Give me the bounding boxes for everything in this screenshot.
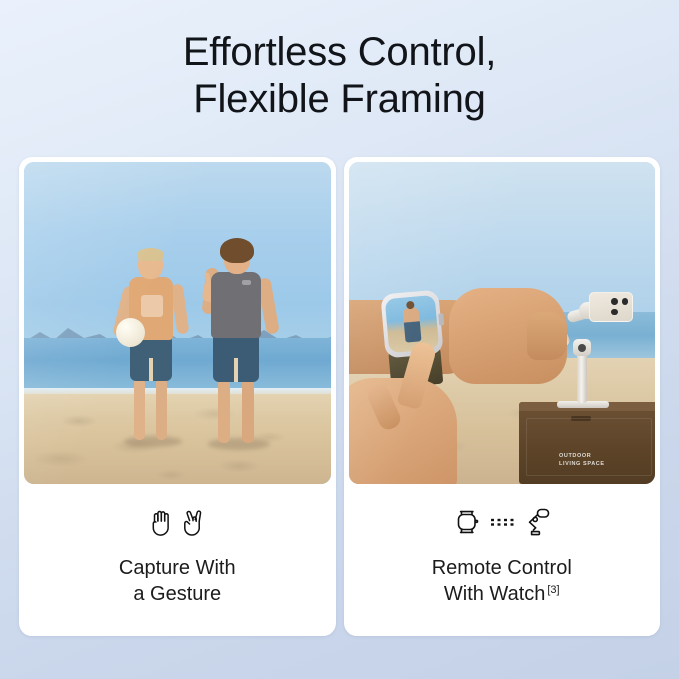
open-palm-hand-icon — [148, 507, 174, 537]
card-caption: Remote Control With Watch[3] — [349, 484, 656, 636]
wireless-signal-dashes-icon — [489, 506, 515, 538]
mounted-phone — [589, 292, 633, 322]
rash-guard — [211, 272, 261, 338]
pointing-hand — [349, 344, 483, 484]
card-caption: Capture With a Gesture — [24, 484, 331, 636]
camera-lens — [622, 298, 629, 305]
knuckles — [527, 312, 567, 360]
caption-line-2: With Watch[3] — [432, 581, 572, 607]
page-title: Effortless Control, Flexible Framing — [0, 29, 679, 123]
watch-remote-control-photo: OUTDOOR LIVING SPACE — [349, 162, 656, 484]
shadow — [208, 438, 270, 450]
hair — [220, 238, 254, 263]
remote-icon-row — [452, 502, 552, 542]
feature-card-grid: Capture With a Gesture OUTDOOR — [19, 157, 660, 636]
hair — [137, 248, 164, 261]
caption-line-2: a Gesture — [119, 581, 236, 607]
headline-line-2: Flexible Framing — [0, 76, 679, 123]
camera-lens — [611, 309, 618, 316]
crate-label: OUTDOOR LIVING SPACE — [559, 453, 605, 468]
caption-line-1: Capture With — [119, 555, 236, 581]
phone-camera-cluster — [611, 298, 628, 315]
leg-left — [218, 379, 230, 443]
feature-card-capture-with-a-gesture[interactable]: Capture With a Gesture — [19, 157, 336, 636]
shadow — [124, 436, 182, 447]
card-caption-text: Remote Control With Watch[3] — [432, 555, 572, 608]
smartwatch-icon — [452, 506, 482, 538]
boy-with-ball — [122, 250, 184, 450]
crate-label-line-1: OUTDOOR — [559, 453, 605, 460]
gimbal-icon — [522, 506, 552, 538]
outdoor-crate: OUTDOOR LIVING SPACE — [519, 402, 655, 484]
leg-right — [242, 379, 254, 443]
caption-line-1: Remote Control — [432, 555, 572, 581]
caption-line-2-text: With Watch — [444, 583, 546, 605]
promo-page: Effortless Control, Flexible Framing — [0, 0, 679, 679]
beach-ball — [116, 318, 145, 347]
leg-left — [134, 378, 145, 440]
headline-line-1: Effortless Control, — [0, 29, 679, 76]
beach-kids-photo — [24, 162, 331, 484]
camera-lens — [611, 298, 618, 305]
leg-right — [156, 378, 167, 440]
watch-crown — [438, 313, 444, 325]
footnote-marker: [3] — [547, 584, 559, 596]
camera-preview-subject — [402, 307, 421, 342]
shorts — [213, 334, 259, 382]
feature-card-remote-control-with-watch[interactable]: OUTDOOR LIVING SPACE — [344, 157, 661, 636]
gesture-icon-row — [148, 502, 207, 542]
peace-sign-hand-icon — [181, 507, 207, 537]
crate-label-line-2: LIVING SPACE — [559, 461, 605, 468]
card-caption-text: Capture With a Gesture — [119, 555, 236, 608]
boy-with-peace-sign — [204, 238, 272, 452]
